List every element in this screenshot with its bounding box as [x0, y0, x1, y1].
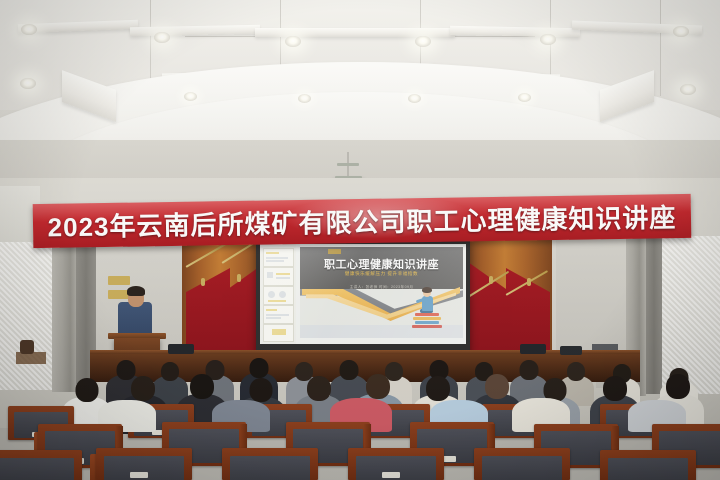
table-monitor	[560, 346, 582, 355]
slide-book-stack-item	[413, 317, 441, 320]
wall-panel-left	[0, 240, 56, 390]
person-head	[307, 376, 331, 401]
person-head	[366, 374, 390, 399]
chair-backrest-pad	[0, 458, 74, 480]
flag-knob-right-b	[489, 276, 493, 284]
bag-on-table	[20, 340, 34, 354]
chair-backrest-pad	[608, 458, 688, 480]
slide-figure-hair	[422, 287, 432, 293]
ceiling-spotlight	[415, 36, 431, 47]
wall-plaque-upper	[108, 276, 130, 285]
slide-corner-tag	[328, 249, 341, 254]
photo-scene: 职工心理健康知识讲座 健康快乐缓解压力 提升幸福指数 主讲人：张老师 时间：20…	[0, 0, 720, 480]
ppt-thumbnail	[263, 267, 294, 286]
chair[interactable]	[0, 450, 82, 480]
person-head	[76, 378, 99, 402]
chair-backrest-pad	[482, 456, 562, 480]
person-head	[131, 376, 155, 401]
ppt-thumbnail	[263, 305, 294, 324]
flag-knob-right-a	[527, 278, 531, 286]
slide-title: 职工心理健康知识讲座	[300, 256, 463, 272]
ceiling-spotlight	[298, 94, 311, 103]
chair[interactable]	[348, 448, 444, 480]
person-head	[520, 360, 539, 380]
person-head	[666, 374, 690, 399]
projector-mount	[337, 163, 359, 166]
slide-book-stack-item	[415, 321, 439, 324]
flag-knob-left-a	[201, 278, 205, 286]
ceiling-spotlight	[21, 24, 37, 35]
ppt-thumbnail	[263, 286, 294, 305]
chair-number-label	[382, 472, 400, 478]
wall-column-left	[52, 232, 78, 392]
ceiling-spotlight	[518, 93, 531, 102]
ceiling-spotlight	[154, 32, 170, 43]
slide-subtitle: 健康快乐缓解压力 提升幸福指数	[300, 271, 463, 277]
chair-number-label	[130, 472, 148, 478]
projection-screen: 职工心理健康知识讲座 健康快乐缓解压力 提升幸福指数 主讲人：张老师 时间：20…	[260, 244, 466, 344]
ppt-thumbnail	[263, 248, 294, 267]
wall-panel-mid-right	[556, 236, 626, 356]
speaker-hair	[127, 286, 145, 296]
ppt-active-slide: 职工心理健康知识讲座 健康快乐缓解压力 提升幸福指数 主讲人：张老师 时间：20…	[300, 247, 463, 338]
person-head	[250, 358, 269, 378]
chair[interactable]	[474, 448, 570, 480]
slide-book-stack-item	[412, 325, 442, 328]
chair-backrest-pad	[230, 456, 310, 480]
person-head	[485, 374, 509, 399]
ceiling-spotlight	[285, 36, 301, 47]
table-monitor	[520, 344, 546, 354]
ppt-thumbnail	[263, 324, 294, 342]
person-head	[603, 376, 627, 401]
chair[interactable]	[96, 448, 192, 480]
flag-knob-left-b	[237, 274, 241, 282]
person-head	[426, 376, 450, 401]
chair[interactable]	[222, 448, 318, 480]
chair[interactable]	[600, 450, 696, 480]
ceiling-spotlight	[184, 92, 197, 101]
ceiling-spotlight	[20, 78, 36, 89]
slide-book-stack-item	[415, 313, 439, 316]
table-monitor	[168, 344, 194, 354]
person-head	[250, 378, 273, 402]
ceiling-spotlight	[680, 84, 696, 95]
ceiling-spotlight	[408, 94, 421, 103]
ceiling-spotlight	[673, 26, 689, 37]
ceiling-spotlight	[540, 34, 556, 45]
person-head	[190, 374, 214, 399]
